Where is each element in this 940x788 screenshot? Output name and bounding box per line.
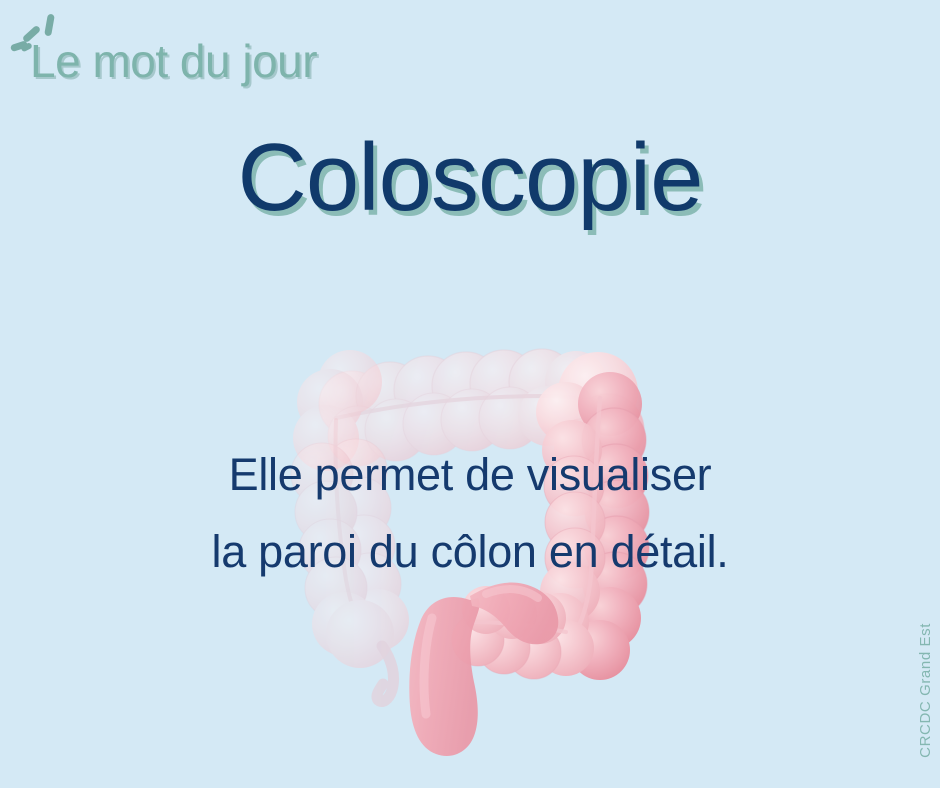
description: Elle permet de visualiser la paroi du cô… <box>0 436 940 591</box>
page-title: Coloscopie <box>0 128 940 229</box>
description-line-1: Elle permet de visualiser <box>0 436 940 513</box>
credit-watermark: CRCDC Grand Est <box>917 623 934 758</box>
sparkle-icon <box>8 12 64 64</box>
kicker-text: Le mot du jour <box>30 38 317 84</box>
sigmoid-colon <box>452 586 594 679</box>
colon-anatomy-illustration <box>0 0 940 788</box>
kicker: Le mot du jour <box>30 38 317 84</box>
description-line-2: la paroi du côlon en détail. <box>0 513 940 590</box>
post-canvas: Le mot du jour Coloscopie Elle permet de… <box>0 0 940 788</box>
rectum <box>409 583 558 756</box>
